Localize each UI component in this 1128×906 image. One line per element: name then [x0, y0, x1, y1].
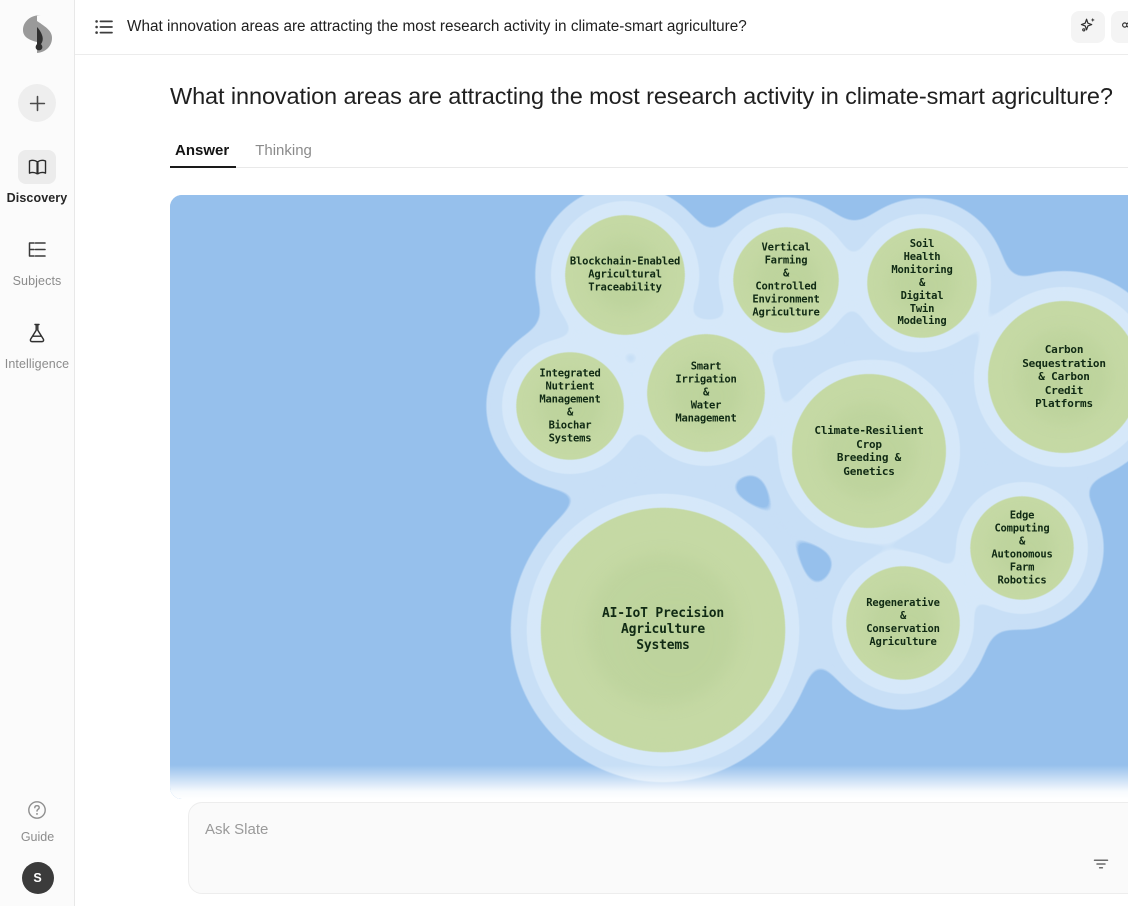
bubble-shape — [770, 263, 812, 305]
bubble-shape — [886, 604, 932, 650]
bubble-shape — [688, 374, 735, 421]
sparkle-icon — [1079, 16, 1097, 39]
book-icon — [18, 150, 56, 184]
composer[interactable]: Ask Slate — [188, 802, 1128, 894]
slate-logo[interactable] — [15, 12, 59, 56]
composer-tools — [1088, 849, 1128, 883]
flask-icon — [18, 316, 56, 350]
bubble-shape — [554, 388, 597, 431]
filter-icon — [1091, 854, 1111, 879]
page-title: What innovation areas are attracting the… — [170, 83, 1128, 110]
top-bar: What innovation areas are attracting the… — [75, 0, 1128, 55]
list-tree-icon — [18, 233, 56, 267]
avatar[interactable]: S — [22, 862, 54, 894]
sidebar-item-label: Subjects — [13, 274, 62, 288]
composer-placeholder: Ask Slate — [205, 821, 268, 838]
sidebar-item-guide[interactable]: Guide — [21, 800, 54, 844]
tab-thinking[interactable]: Thinking — [242, 143, 325, 167]
sidebar-item-subjects[interactable]: Subjects — [6, 233, 68, 288]
sidebar-item-label: Discovery — [7, 191, 68, 205]
question-circle-icon — [27, 800, 47, 825]
new-item-button[interactable] — [18, 84, 56, 122]
main-content: What innovation areas are attracting the… — [75, 0, 1128, 906]
left-sidebar: Discovery Subjects Intelligence — [0, 0, 75, 906]
filter-button[interactable] — [1088, 853, 1114, 879]
bubble-shape — [1006, 531, 1048, 573]
tab-bar: Answer Thinking — [170, 132, 1128, 168]
sidebar-item-discovery[interactable]: Discovery — [6, 150, 68, 205]
sidebar-item-label: Guide — [21, 830, 54, 844]
topbar-title: What innovation areas are attracting the… — [127, 18, 1071, 36]
sidebar-item-intelligence[interactable]: Intelligence — [6, 316, 68, 371]
app-root: Discovery Subjects Intelligence — [0, 0, 1128, 906]
list-icon[interactable] — [93, 16, 115, 38]
share-button[interactable]: Share — [1111, 11, 1128, 43]
bubble-map-visualization[interactable]: Blockchain-Enabled Agricultural Traceabi… — [170, 195, 1128, 799]
sidebar-footer: Guide S — [0, 800, 75, 894]
bubble-map-svg — [170, 195, 1128, 799]
topbar-actions: Share — [1071, 11, 1128, 43]
bubble-shape — [846, 426, 908, 488]
bubble-shape — [626, 590, 724, 688]
bubble-shape — [607, 255, 655, 303]
bubble-shape — [906, 265, 950, 309]
sidebar-item-label: Intelligence — [5, 357, 69, 371]
share-icon — [1121, 17, 1128, 38]
sparkle-button[interactable] — [1071, 11, 1105, 43]
bubble-shape — [1041, 352, 1102, 413]
tab-answer[interactable]: Answer — [170, 143, 242, 167]
